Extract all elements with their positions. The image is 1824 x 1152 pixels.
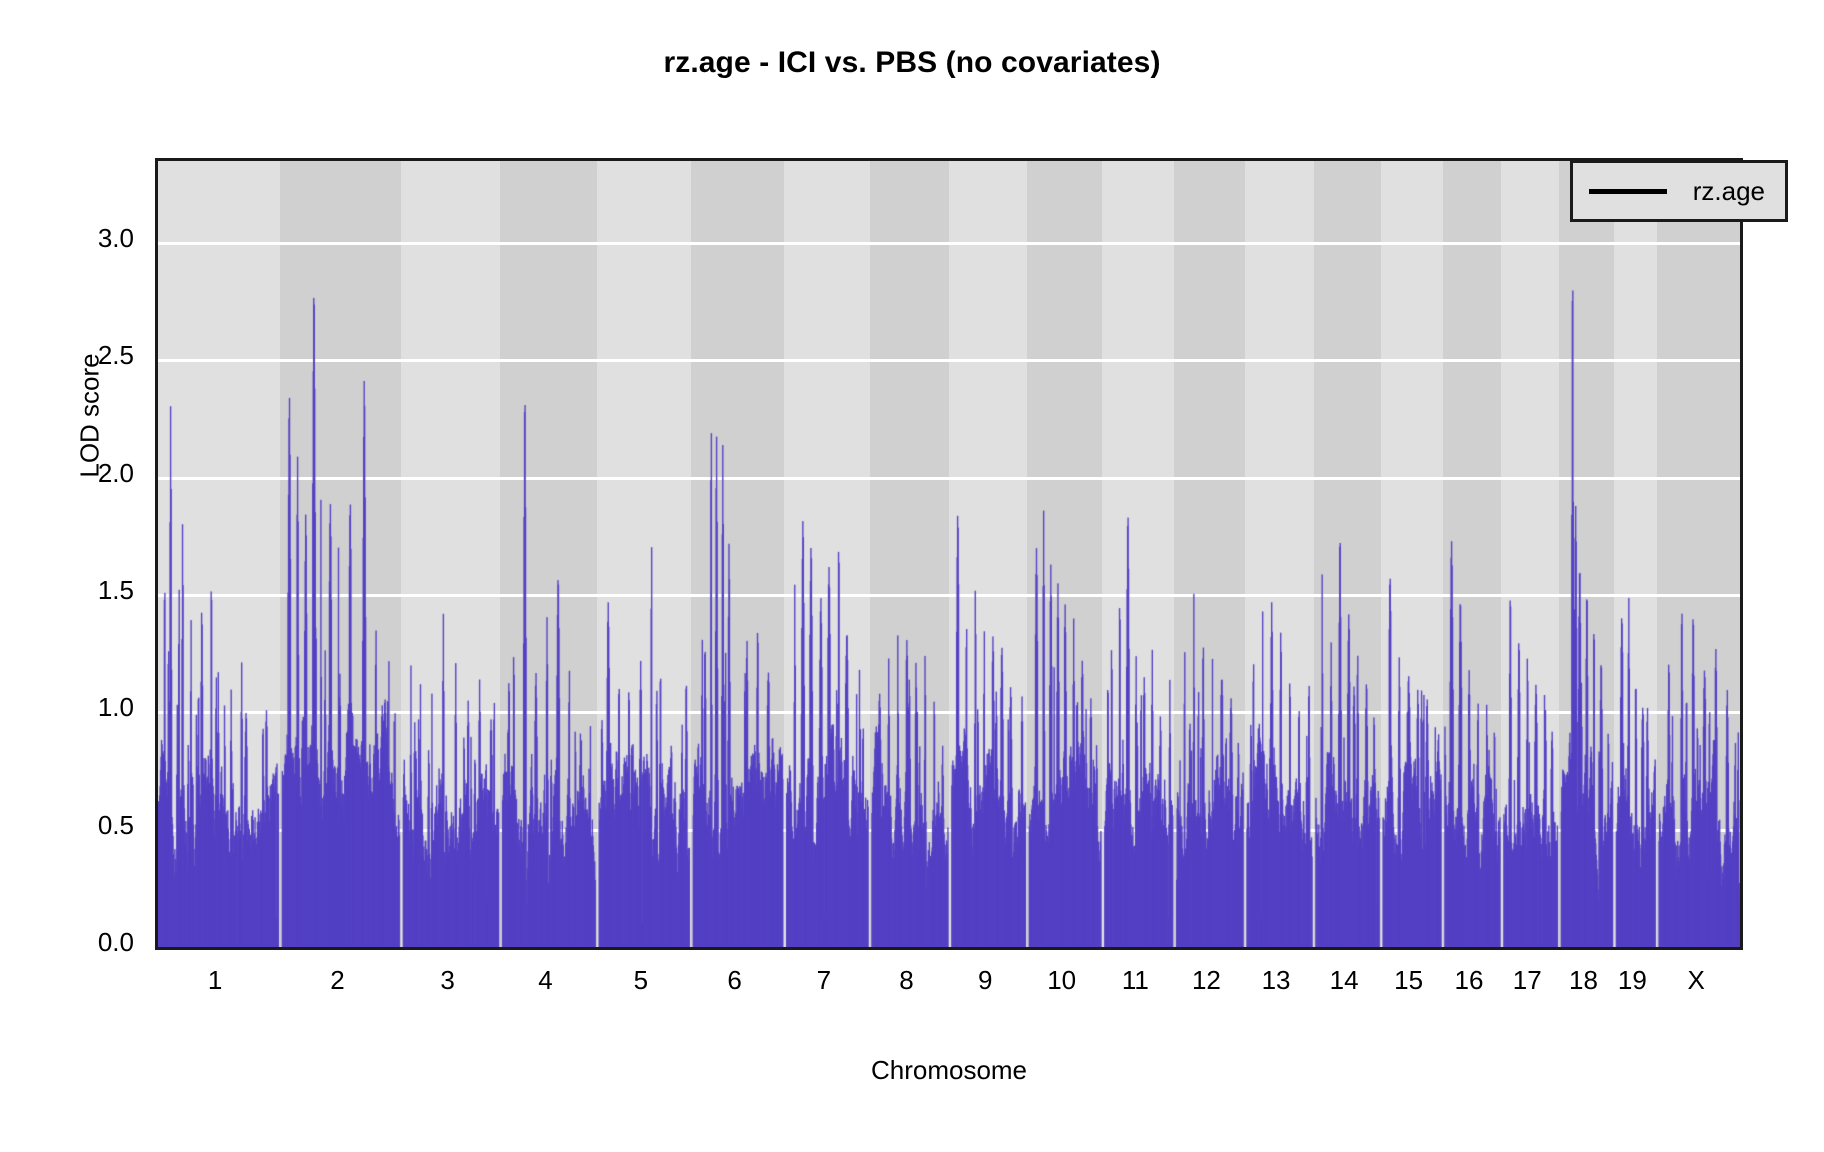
x-tick-chromosome-11: 11 [1122,965,1149,996]
legend-label: rz.age [1693,176,1765,207]
legend: rz.age [1570,160,1788,222]
x-tick-chromosome-13: 13 [1262,965,1291,996]
x-tick-chromosome-15: 15 [1394,965,1423,996]
x-tick-chromosome-17: 17 [1513,965,1542,996]
y-tick-1.5: 1.5 [14,575,134,606]
x-tick-chromosome-12: 12 [1192,965,1221,996]
y-tick-0.5: 0.5 [14,810,134,841]
y-tick-2.5: 2.5 [14,340,134,371]
x-tick-chromosome-10: 10 [1047,965,1076,996]
y-tick-3.0: 3.0 [14,223,134,254]
x-tick-chromosome-7: 7 [817,965,831,996]
y-tick-2.0: 2.0 [14,458,134,489]
y-tick-0.0: 0.0 [14,927,134,958]
x-tick-chromosome-6: 6 [727,965,741,996]
x-tick-chromosome-16: 16 [1455,965,1484,996]
x-tick-chromosome-19: 19 [1618,965,1647,996]
x-tick-chromosome-2: 2 [330,965,344,996]
x-tick-chromosome-8: 8 [899,965,913,996]
x-tick-chromosome-X: X [1688,965,1705,996]
chart-page: rz.age - ICI vs. PBS (no covariates) LOD… [0,0,1824,1152]
x-tick-chromosome-14: 14 [1330,965,1359,996]
x-axis-title: Chromosome [155,1055,1743,1086]
x-tick-chromosome-4: 4 [538,965,552,996]
x-tick-chromosome-1: 1 [208,965,222,996]
lod-score-trace [158,161,1740,947]
x-tick-chromosome-5: 5 [634,965,648,996]
page-title: rz.age - ICI vs. PBS (no covariates) [0,46,1824,80]
y-axis-title: LOD score [75,266,106,566]
x-tick-chromosome-3: 3 [440,965,454,996]
legend-line-swatch [1589,189,1667,194]
plot-inner [158,161,1740,947]
x-tick-chromosome-18: 18 [1569,965,1598,996]
x-tick-chromosome-9: 9 [978,965,992,996]
plot-area [155,158,1743,950]
y-tick-1.0: 1.0 [14,692,134,723]
